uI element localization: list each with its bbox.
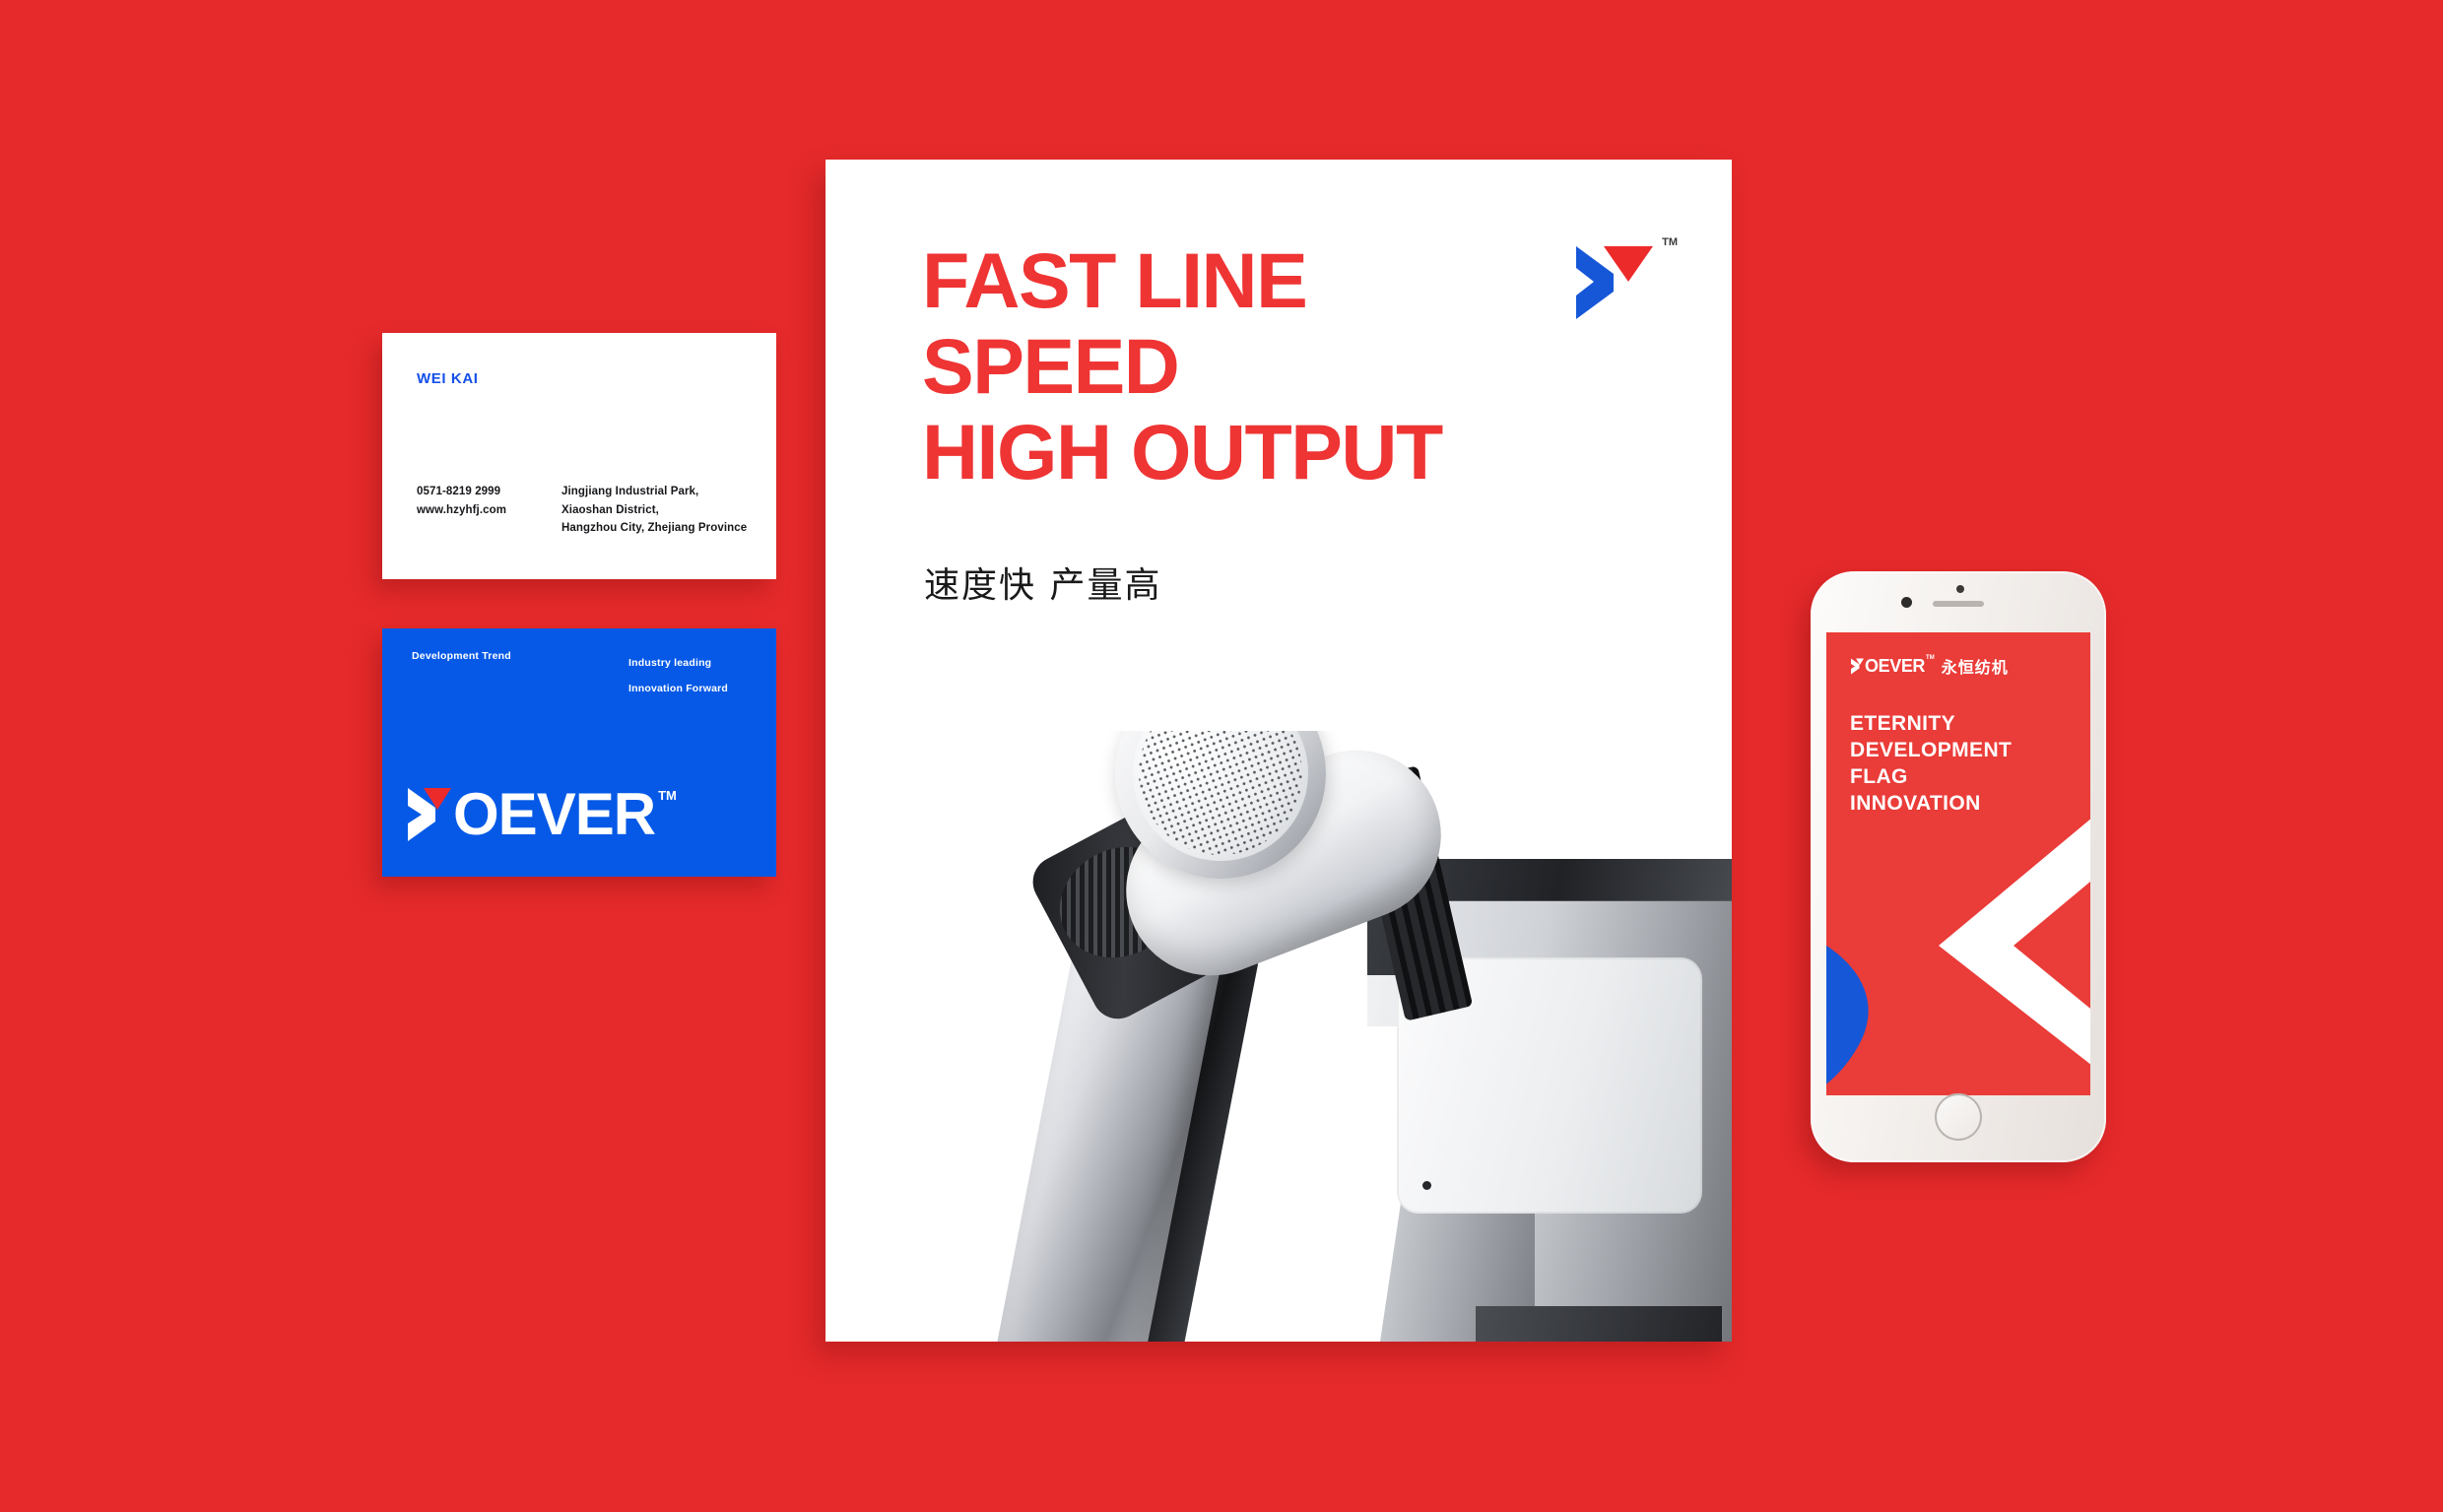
plate-screw-bottom bbox=[1422, 1181, 1431, 1190]
phone-front-camera-icon bbox=[1901, 597, 1912, 608]
card-tagline-right-line-1: Industry leading bbox=[628, 650, 747, 676]
screen-chinese-name: 永恒纺机 bbox=[1942, 654, 2009, 678]
yoever-wordmark: OEVER TM bbox=[406, 784, 677, 845]
yoever-chevron-icon bbox=[406, 784, 451, 845]
poster-content: FAST LINE SPEED HIGH OUTPUT 速度快 产量高 TM bbox=[825, 160, 1732, 1342]
poster-headline-line-2: SPEED bbox=[922, 324, 1552, 410]
screen-white-chevron-graphic bbox=[1919, 798, 2090, 1093]
robot-arm-photo bbox=[825, 731, 1732, 1342]
screen-headline-line-1: ETERNITY bbox=[1850, 711, 2062, 738]
contact-column-right: Jingjiang Industrial Park, Xiaoshan Dist… bbox=[561, 483, 752, 538]
screen-headline-line-2: DEVELOPMENT bbox=[1850, 738, 2062, 764]
poster-subheadline: 速度快 产量高 bbox=[924, 557, 1161, 608]
trademark-symbol: TM bbox=[658, 788, 677, 803]
phone-earpiece-speaker bbox=[1933, 601, 1984, 607]
poster-logo-icon bbox=[1570, 240, 1661, 325]
screen-blue-curve-graphic bbox=[1826, 902, 1923, 1095]
contact-name: WEI KAI bbox=[417, 370, 479, 387]
poster-headline: FAST LINE SPEED HIGH OUTPUT bbox=[922, 238, 1552, 495]
card-tagline-right-line-2: Innovation Forward bbox=[628, 676, 747, 701]
poster-headline-line-3: HIGH OUTPUT bbox=[922, 410, 1552, 495]
poster-brochure: FAST LINE SPEED HIGH OUTPUT 速度快 产量高 TM bbox=[825, 160, 1732, 1342]
address-line-3: Hangzhou City, Zhejiang Province bbox=[561, 519, 752, 538]
smartphone-mockup: OEVER TM 永恒纺机 ETERNITY DEVELOPMENT FLAG … bbox=[1811, 571, 2106, 1162]
phone-screen[interactable]: OEVER TM 永恒纺机 ETERNITY DEVELOPMENT FLAG … bbox=[1826, 632, 2090, 1095]
poster-trademark-symbol: TM bbox=[1662, 236, 1678, 248]
address-line-1: Jingjiang Industrial Park, bbox=[561, 483, 752, 501]
contact-details: 0571-8219 2999 www.hzyhfj.com Jingjiang … bbox=[417, 483, 752, 538]
branding-mockup-canvas: WEI KAI 0571-8219 2999 www.hzyhfj.com Ji… bbox=[0, 0, 2443, 1512]
yoever-wordmark-text: OEVER bbox=[453, 787, 655, 841]
card-tagline-right: Industry leading Innovation Forward bbox=[628, 650, 747, 702]
contact-column-left: 0571-8219 2999 www.hzyhfj.com bbox=[417, 483, 530, 538]
phone-proximity-sensor-icon bbox=[1956, 585, 1964, 593]
machine-base-foot bbox=[1476, 1306, 1722, 1342]
screen-headline: ETERNITY DEVELOPMENT FLAG INNOVATION bbox=[1850, 711, 2062, 818]
screen-trademark-symbol: TM bbox=[1926, 655, 1935, 661]
screen-logo-lockup: OEVER TM 永恒纺机 bbox=[1850, 654, 2009, 678]
poster-headline-line-1: FAST LINE bbox=[922, 238, 1552, 324]
phone-home-button[interactable] bbox=[1935, 1093, 1982, 1141]
address-line-2: Xiaoshan District, bbox=[561, 501, 752, 520]
business-card-front: WEI KAI 0571-8219 2999 www.hzyhfj.com Ji… bbox=[382, 333, 776, 579]
contact-phone: 0571-8219 2999 bbox=[417, 483, 530, 501]
screen-wordmark-text: OEVER bbox=[1865, 656, 1925, 677]
screen-headline-line-4: INNOVATION bbox=[1850, 791, 2062, 818]
screen-headline-line-3: FLAG bbox=[1850, 764, 2062, 791]
business-card-back: Development Trend Industry leading Innov… bbox=[382, 628, 776, 877]
screen-yoever-chevron-icon bbox=[1850, 657, 1864, 676]
contact-website: www.hzyhfj.com bbox=[417, 501, 530, 520]
card-logo-lockup: OEVER TM bbox=[406, 784, 677, 845]
card-tagline-left: Development Trend bbox=[412, 650, 511, 662]
